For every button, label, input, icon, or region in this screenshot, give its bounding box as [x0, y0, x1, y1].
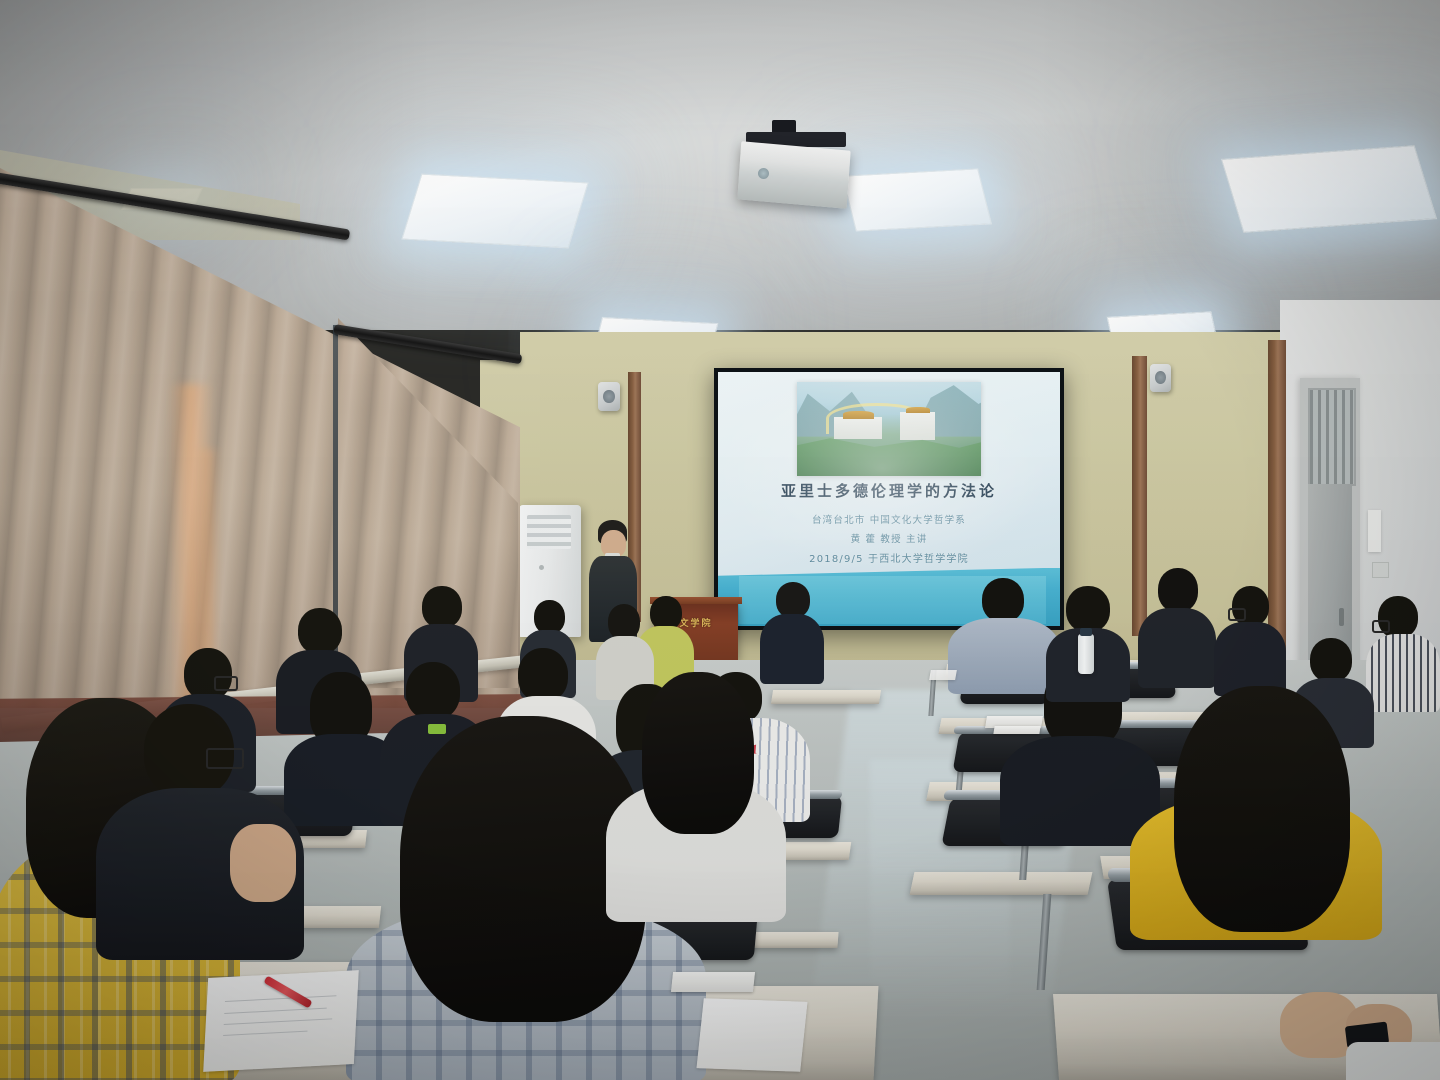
ac-vent-grille	[527, 515, 571, 549]
projector	[737, 141, 850, 209]
slide-photo	[797, 382, 982, 476]
sleeve	[1346, 1042, 1440, 1080]
paper-sheet[interactable]	[696, 998, 807, 1072]
photo-roof	[906, 407, 930, 414]
torso	[1214, 622, 1286, 696]
notebook[interactable]	[993, 726, 1040, 734]
paper-line	[223, 1031, 307, 1036]
led-panel-light	[401, 174, 588, 249]
notebook[interactable]	[671, 972, 755, 992]
head	[184, 648, 232, 700]
paper-sheet[interactable]	[929, 670, 957, 680]
glasses-icon	[1228, 608, 1246, 621]
audience-member	[606, 672, 786, 916]
head	[982, 578, 1024, 622]
led-panel-light	[1221, 145, 1437, 233]
lecture-hall-photo: 亚里士多德伦理学的方法论 台湾台北市 中国文化大学哲学系 黄 藿 教授 主讲 2…	[0, 0, 1440, 1080]
arm	[230, 824, 296, 902]
head	[518, 648, 568, 702]
audience-member-yellow-top	[1122, 686, 1390, 936]
bottle-cap	[1080, 628, 1092, 636]
photo-foliage	[797, 437, 982, 476]
head	[650, 596, 682, 630]
head	[1310, 638, 1352, 682]
head	[298, 608, 342, 654]
door-handle[interactable]	[1339, 608, 1344, 626]
slide-date-venue: 2018/9/5 于西北大学哲学学院	[718, 550, 1060, 565]
door-transom-window[interactable]	[1308, 388, 1356, 486]
audience-member	[96, 704, 304, 954]
hair	[642, 672, 754, 834]
ac-indicator	[539, 565, 544, 570]
slide-title: 亚里士多德伦理学的方法论	[718, 480, 1060, 501]
water-bottle[interactable]	[1078, 634, 1094, 674]
photo-building	[900, 412, 935, 440]
paper-line	[225, 996, 337, 1003]
glasses-icon	[1372, 620, 1390, 633]
glasses-icon	[214, 676, 238, 691]
slide-affiliation: 台湾台北市 中国文化大学哲学系	[718, 512, 1060, 526]
wall-sign	[1368, 510, 1381, 552]
paper-line	[224, 1007, 326, 1013]
head	[1066, 586, 1110, 632]
wall-speaker-left	[598, 382, 620, 411]
wall-speaker-right	[1150, 364, 1171, 392]
glasses-icon	[206, 748, 244, 769]
desk	[910, 872, 1093, 895]
photo-building	[834, 417, 882, 440]
head	[422, 586, 462, 628]
head	[534, 600, 565, 634]
projector-lens	[758, 168, 769, 179]
hair	[1174, 686, 1350, 932]
photo-roof	[843, 411, 874, 419]
head	[608, 604, 640, 640]
paper-line	[224, 1018, 332, 1025]
audience-member	[1214, 586, 1286, 692]
head	[776, 582, 810, 618]
audience-member-with-phone	[1272, 986, 1440, 1080]
audience-member	[760, 582, 824, 682]
slide-presenter: 黄 藿 教授 主讲	[718, 531, 1060, 545]
wall-switch-plate[interactable]	[1372, 562, 1389, 578]
head	[1158, 568, 1198, 612]
led-panel-light	[842, 168, 992, 231]
head	[406, 662, 460, 720]
